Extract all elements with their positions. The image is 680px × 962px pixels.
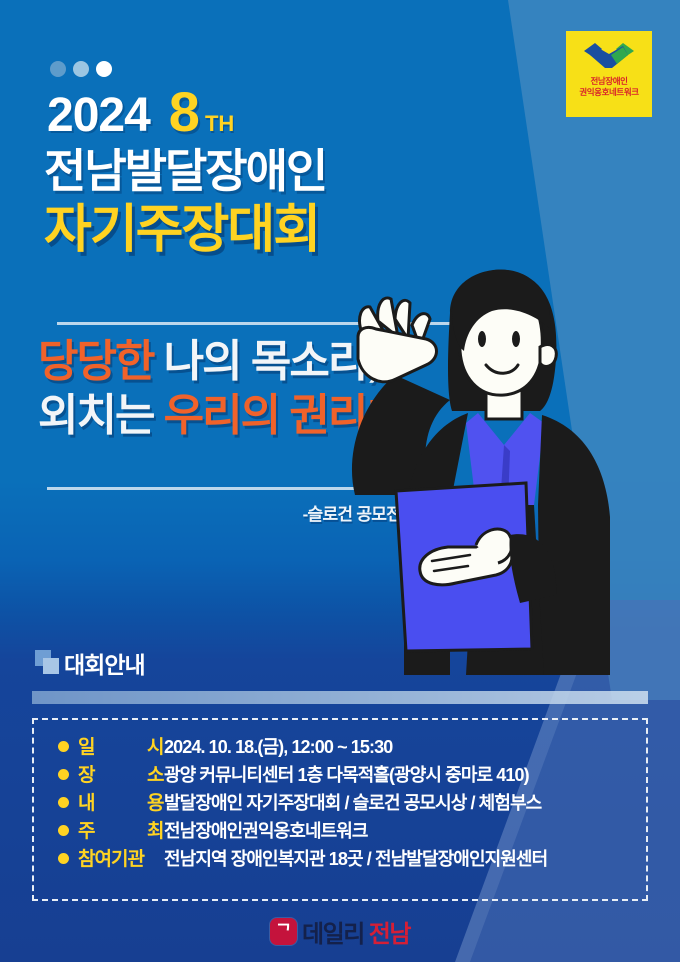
- info-row-date: 일 시 2024. 10. 18.(금), 12:00 ~ 15:30: [58, 732, 658, 760]
- sponsor-logo: 전남장애인 권익옹호네트워크: [566, 31, 652, 117]
- info-value: 2024. 10. 18.(금), 12:00 ~ 15:30: [164, 733, 392, 759]
- info-label-char2: 소: [147, 760, 164, 787]
- dot-icon-3: [96, 61, 112, 77]
- info-value: 발달장애인 자기주장대회 / 슬로건 공모시상 / 체험부스: [164, 789, 541, 815]
- slogan-line2-plain: 외치는: [38, 391, 164, 440]
- woman-speaker-illustration: [300, 255, 680, 675]
- section-title: 대회안내: [64, 646, 145, 680]
- bullet-icon: [58, 797, 69, 808]
- bullet-icon: [58, 741, 69, 752]
- sponsor-logo-text-line1: 전남장애인: [579, 76, 638, 87]
- event-year: 2024: [47, 92, 150, 140]
- info-label-char2: 시: [147, 732, 164, 759]
- poster-title-line1: 전남발달장애인: [44, 148, 326, 194]
- bullet-icon: [58, 853, 69, 864]
- bullet-icon: [58, 825, 69, 836]
- info-value: 전남지역 장애인복지관 18곳 / 전남발달장애인지원센터: [164, 845, 547, 871]
- info-label: 참여기관: [78, 844, 164, 871]
- info-label: 주 최: [78, 816, 164, 843]
- slogan-line1-highlight: 당당한: [38, 337, 153, 386]
- handshake-icon: [581, 40, 637, 74]
- info-label-char1: 내: [78, 788, 95, 815]
- info-row-venue: 장 소 광양 커뮤니티센터 1층 다목적홀(광양시 중마로 410): [58, 760, 658, 788]
- info-label-char1: 주: [78, 816, 95, 843]
- brand-name-part1: 데일리: [302, 914, 364, 949]
- event-ordinal-number: 8: [169, 84, 200, 140]
- info-row-participants: 참여기관 전남지역 장애인복지관 18곳 / 전남발달장애인지원센터: [58, 844, 658, 872]
- info-label-char1: 일: [78, 732, 95, 759]
- info-label: 장 소: [78, 760, 164, 787]
- info-value: 광양 커뮤니티센터 1층 다목적홀(광양시 중마로 410): [164, 761, 529, 787]
- dot-icon-2: [73, 61, 89, 77]
- brand-name-part2: 전남: [369, 914, 410, 949]
- event-poster: 전남장애인 권익옹호네트워크 2024 8 TH 전남발달장애인 자기주장대회 …: [0, 0, 680, 962]
- dot-icon-1: [50, 61, 66, 77]
- stacked-squares-icon: [35, 650, 61, 676]
- info-label: 일 시: [78, 732, 164, 759]
- sponsor-logo-text: 전남장애인 권익옹호네트워크: [579, 76, 638, 97]
- daily-jeonnam-logo-icon: ᄀ: [270, 918, 297, 945]
- info-list: 일 시 2024. 10. 18.(금), 12:00 ~ 15:30 장 소 …: [58, 732, 658, 872]
- footer-brand: ᄀ 데일리 전남: [0, 914, 680, 949]
- year-ordinal-row: 2024 8 TH: [47, 84, 234, 140]
- event-ordinal-suffix: TH: [205, 113, 234, 135]
- raised-hand-icon: [358, 298, 437, 382]
- info-label: 내 용: [78, 788, 164, 815]
- section-divider-bar: [32, 691, 648, 704]
- sponsor-logo-text-line2: 권익옹호네트워크: [579, 87, 638, 98]
- bullet-icon: [58, 769, 69, 780]
- info-value: 전남장애인권익옹호네트워크: [164, 817, 368, 843]
- poster-title-line2: 자기주장대회: [44, 204, 319, 256]
- info-label-char2: 용: [147, 788, 164, 815]
- info-label-char2: 최: [147, 816, 164, 843]
- info-label-char1: 장: [78, 760, 95, 787]
- info-row-content: 내 용 발달장애인 자기주장대회 / 슬로건 공모시상 / 체험부스: [58, 788, 658, 816]
- info-row-host: 주 최 전남장애인권익옹호네트워크: [58, 816, 658, 844]
- header-dots: [50, 61, 112, 77]
